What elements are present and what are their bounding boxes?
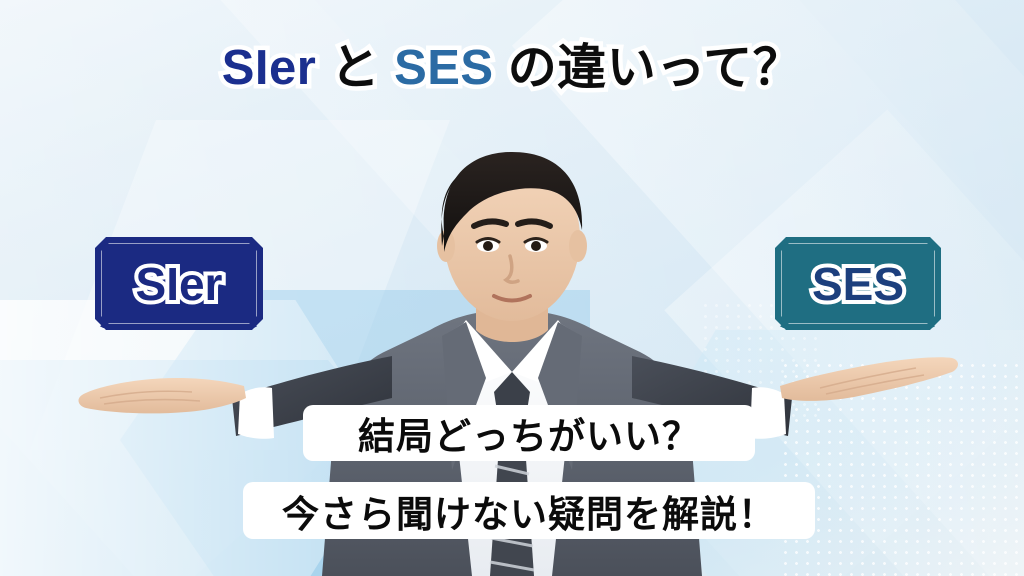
title-segment-sier: SIer (222, 41, 317, 95)
page-title: SIer と SES の違いって？ (0, 43, 1024, 94)
thumbnail-canvas: SIer と SES の違いって？ SIer SES 結局どっちがいい？ 今さら… (0, 0, 1024, 576)
badge-ses: SES (775, 237, 941, 330)
title-segment-ses: SES (394, 41, 494, 95)
badge-sier-label: SIer (136, 261, 223, 307)
title-segment-to: と (316, 41, 394, 95)
badge-ses-label: SES (812, 261, 904, 307)
banner-subtitle: 今さら聞けない疑問を解説！ (243, 482, 815, 539)
banner-question: 結局どっちがいい？ (303, 405, 755, 461)
badge-sier: SIer (95, 237, 263, 330)
title-segment-tail: の違いって？ (494, 41, 803, 95)
